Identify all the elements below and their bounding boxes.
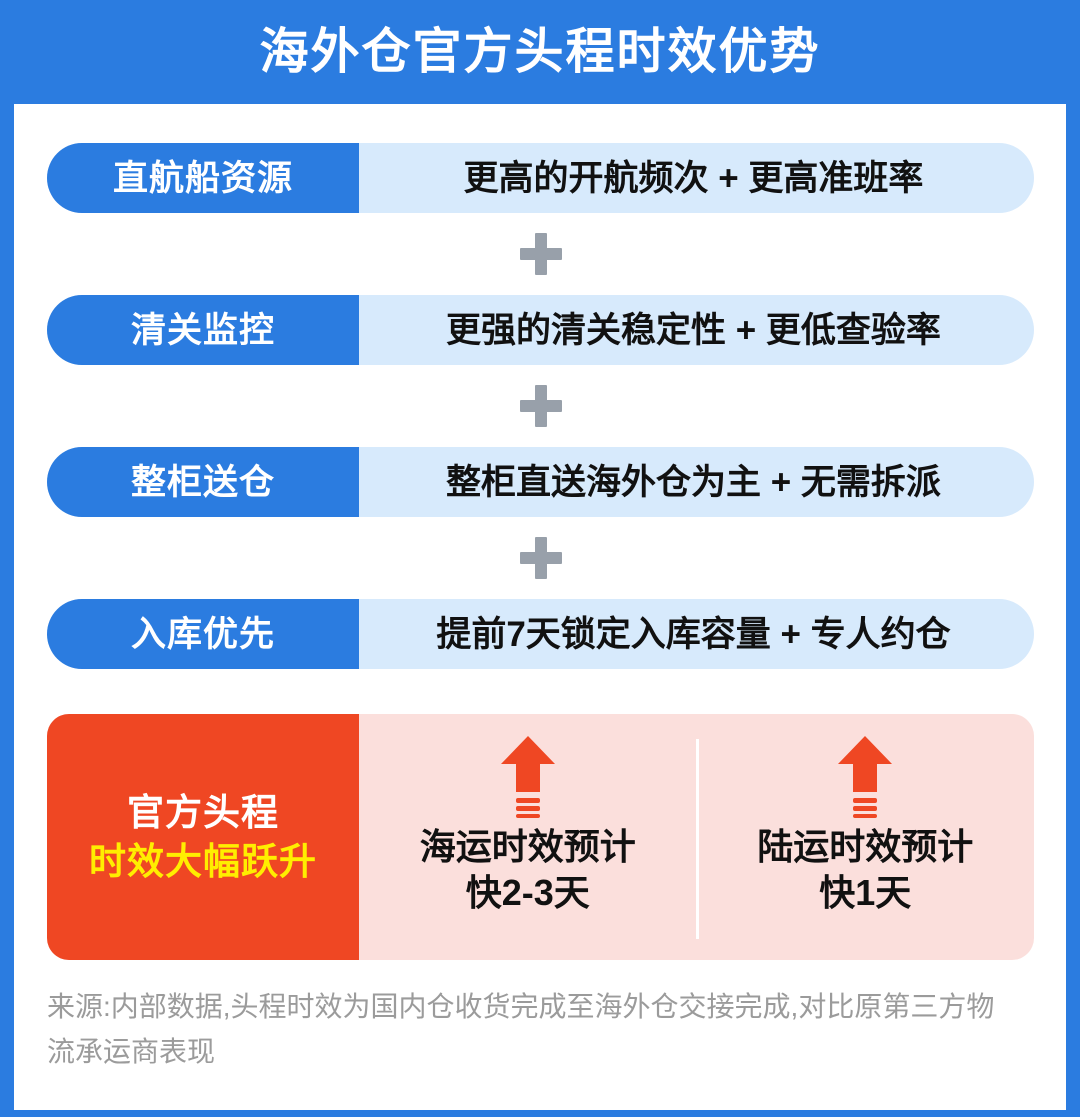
highlight-result-block: 官方头程 时效大幅跃升 海运时效预计 快2-3天 bbox=[47, 714, 1034, 960]
highlight-column-line2: 快2-3天 bbox=[420, 870, 636, 916]
highlight-label-line1: 官方头程 bbox=[127, 794, 279, 831]
feature-row-label: 清关监控 bbox=[47, 295, 359, 365]
feature-row: 整柜送仓 整柜直送海外仓为主 + 无需拆派 bbox=[47, 447, 1034, 517]
source-note: 来源:内部数据,头程时效为国内仓收货完成至海外仓交接完成,对比原第三方物流承运商… bbox=[47, 984, 1007, 1075]
feature-row-description: 更强的清关稳定性 + 更低查验率 bbox=[359, 295, 1034, 365]
page-title: 海外仓官方头程时效优势 bbox=[259, 28, 820, 77]
arrow-up-icon bbox=[836, 736, 894, 818]
highlight-column-line1: 海运时效预计 bbox=[420, 824, 636, 870]
feature-row-label: 直航船资源 bbox=[47, 143, 359, 213]
feature-rows: 直航船资源 更高的开航频次 + 更高准班率 清关监控 更强的清关稳定性 + 更低… bbox=[47, 143, 1034, 669]
plus-separator bbox=[47, 517, 1034, 599]
feature-row-description: 提前7天锁定入库容量 + 专人约仓 bbox=[359, 599, 1034, 669]
plus-icon bbox=[520, 233, 562, 275]
feature-row-description: 更高的开航频次 + 更高准班率 bbox=[359, 143, 1034, 213]
highlight-column-text: 陆运时效预计 快1天 bbox=[757, 824, 973, 916]
plus-separator bbox=[47, 213, 1034, 295]
content-card: 直航船资源 更高的开航频次 + 更高准班率 清关监控 更强的清关稳定性 + 更低… bbox=[14, 104, 1066, 1110]
feature-row: 直航船资源 更高的开航频次 + 更高准班率 bbox=[47, 143, 1034, 213]
highlight-column-line2: 快1天 bbox=[757, 870, 973, 916]
plus-separator bbox=[47, 365, 1034, 447]
highlight-column-text: 海运时效预计 快2-3天 bbox=[420, 824, 636, 916]
highlight-label: 官方头程 时效大幅跃升 bbox=[47, 714, 359, 960]
feature-row-label: 整柜送仓 bbox=[47, 447, 359, 517]
column-divider bbox=[696, 739, 699, 939]
plus-icon bbox=[520, 537, 562, 579]
title-banner: 海外仓官方头程时效优势 bbox=[0, 0, 1080, 104]
plus-icon bbox=[520, 385, 562, 427]
highlight-column: 陆运时效预计 快1天 bbox=[697, 714, 1035, 960]
feature-row-label: 入库优先 bbox=[47, 599, 359, 669]
highlight-label-line2: 时效大幅跃升 bbox=[89, 843, 317, 880]
feature-row: 清关监控 更强的清关稳定性 + 更低查验率 bbox=[47, 295, 1034, 365]
infographic-poster: 海外仓官方头程时效优势 直航船资源 更高的开航频次 + 更高准班率 清关监控 更… bbox=[0, 0, 1080, 1117]
highlight-column: 海运时效预计 快2-3天 bbox=[359, 714, 697, 960]
highlight-column-line1: 陆运时效预计 bbox=[757, 824, 973, 870]
arrow-up-icon bbox=[499, 736, 557, 818]
feature-row-description: 整柜直送海外仓为主 + 无需拆派 bbox=[359, 447, 1034, 517]
highlight-columns: 海运时效预计 快2-3天 陆运时效预计 快1天 bbox=[359, 714, 1034, 960]
feature-row: 入库优先 提前7天锁定入库容量 + 专人约仓 bbox=[47, 599, 1034, 669]
